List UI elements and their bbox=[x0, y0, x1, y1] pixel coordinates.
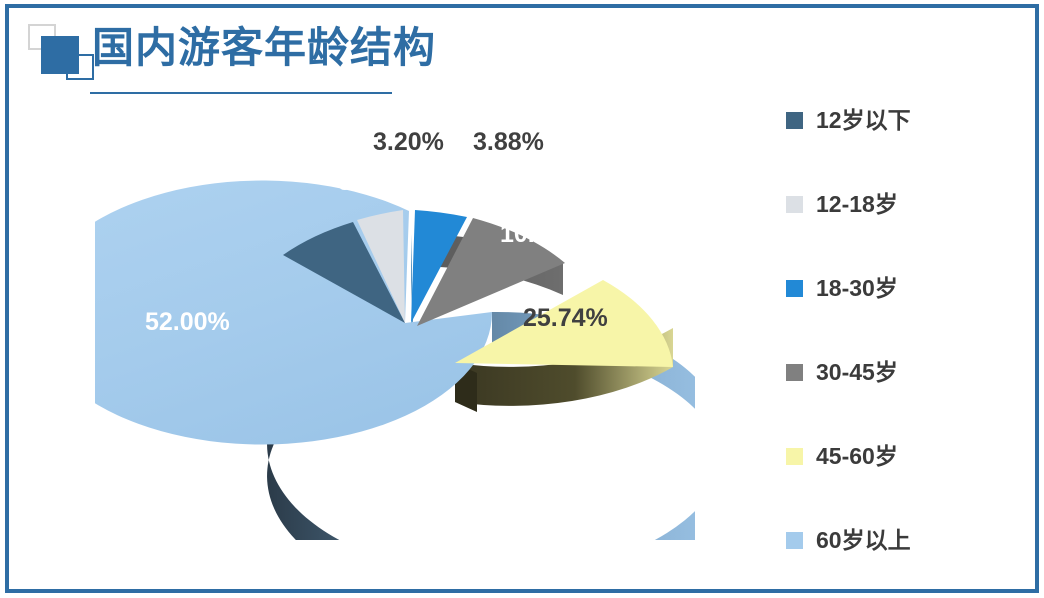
legend-item-12-under[interactable]: 12岁以下 bbox=[786, 78, 1016, 162]
legend-item-18-30[interactable]: 18-30岁 bbox=[786, 246, 1016, 330]
legend-label: 45-60岁 bbox=[816, 445, 898, 468]
legend-item-30-45[interactable]: 30-45岁 bbox=[786, 330, 1016, 414]
title-block: 国内游客年龄结构 bbox=[0, 0, 560, 120]
legend-label: 18-30岁 bbox=[816, 277, 898, 300]
legend-label: 30-45岁 bbox=[816, 361, 898, 384]
legend-swatch-icon bbox=[786, 532, 803, 549]
pie-chart-svg: 5.15% 3.20% 3.88% 10.03% 25.74% 52.00% bbox=[95, 120, 695, 540]
legend-item-45-60[interactable]: 45-60岁 bbox=[786, 414, 1016, 498]
legend-label: 12岁以下 bbox=[816, 109, 911, 132]
legend-swatch-icon bbox=[786, 448, 803, 465]
legend-label: 12-18岁 bbox=[816, 193, 898, 216]
decorative-squares-logo bbox=[28, 24, 94, 84]
page-title: 国内游客年龄结构 bbox=[92, 23, 436, 73]
legend-label: 60岁以上 bbox=[816, 529, 911, 552]
legend-swatch-icon bbox=[786, 196, 803, 213]
title-underline bbox=[90, 92, 392, 94]
legend-item-60-plus[interactable]: 60岁以上 bbox=[786, 498, 1016, 582]
pie-label-10-03: 10.03% bbox=[500, 220, 585, 248]
blue-square-outline-icon bbox=[66, 54, 94, 80]
pie-label-5-15: 5.15% bbox=[338, 168, 409, 196]
slide-canvas: 国内游客年龄结构 bbox=[0, 0, 1044, 598]
legend-swatch-icon bbox=[786, 364, 803, 381]
legend-swatch-icon bbox=[786, 280, 803, 297]
pie-label-3-20: 3.20% bbox=[373, 128, 444, 156]
chart-legend: 12岁以下 12-18岁 18-30岁 30-45岁 45-60岁 60岁以上 bbox=[786, 78, 1016, 582]
pie-label-25-74: 25.74% bbox=[523, 304, 608, 332]
legend-item-12-18[interactable]: 12-18岁 bbox=[786, 162, 1016, 246]
pie-label-52-00: 52.00% bbox=[145, 308, 230, 336]
legend-swatch-icon bbox=[786, 112, 803, 129]
pie-chart: 5.15% 3.20% 3.88% 10.03% 25.74% 52.00% bbox=[95, 120, 695, 540]
pie-label-3-88: 3.88% bbox=[473, 128, 544, 156]
